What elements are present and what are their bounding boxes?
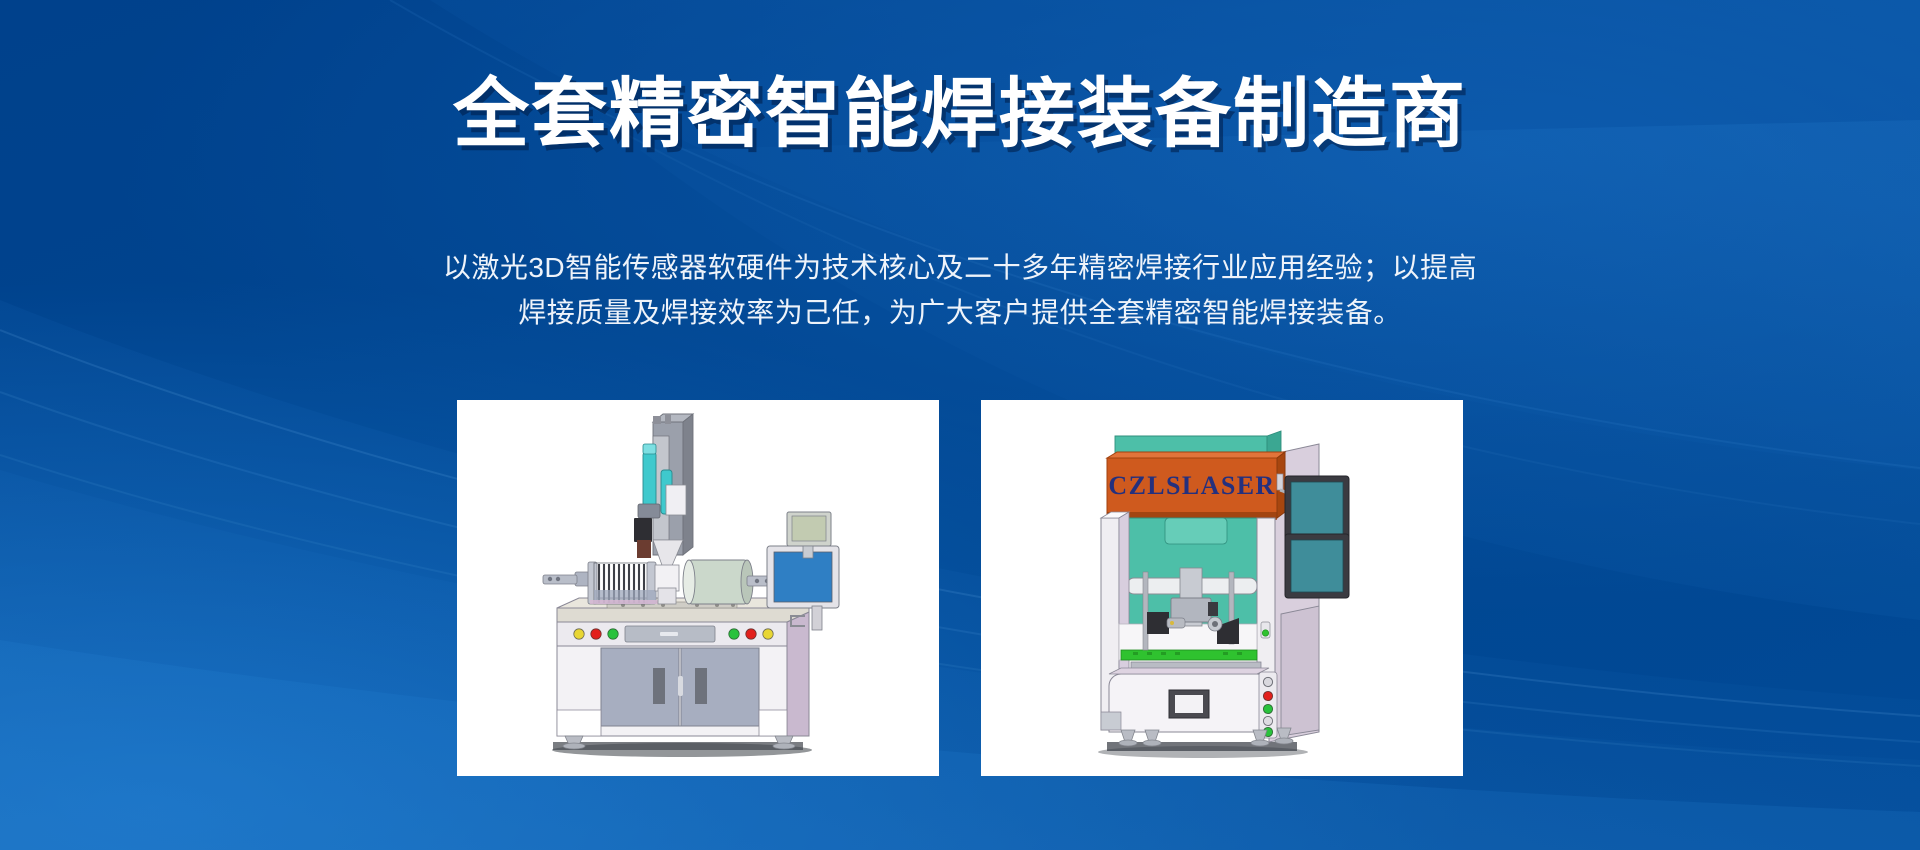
page-title: 全套精密智能焊接装备制造商 [0, 72, 1920, 157]
machine-brand-label: CZLSLASER [1108, 471, 1275, 500]
product-image-gallery: CZLSLASER [457, 400, 1463, 776]
product-card-czlslaser[interactable]: CZLSLASER [981, 400, 1463, 776]
product-card-workstation[interactable] [457, 400, 939, 776]
page-subtitle: 以激光3D智能传感器软硬件为技术核心及二十多年精密焊接行业应用经验；以提高 焊接… [405, 245, 1515, 336]
czlslaser-machine-illustration: CZLSLASER [981, 400, 1463, 776]
subtitle-line-1: 以激光3D智能传感器软硬件为技术核心及二十多年精密焊接行业应用经验；以提高 [443, 252, 1477, 283]
subtitle-line-2: 焊接质量及焊接效率为己任，为广大客户提供全套精密智能焊接装备。 [405, 290, 1515, 335]
hero-section: 全套精密智能焊接装备制造商 以激光3D智能传感器软硬件为技术核心及二十多年精密焊… [0, 0, 1920, 850]
workstation-illustration [457, 400, 939, 776]
